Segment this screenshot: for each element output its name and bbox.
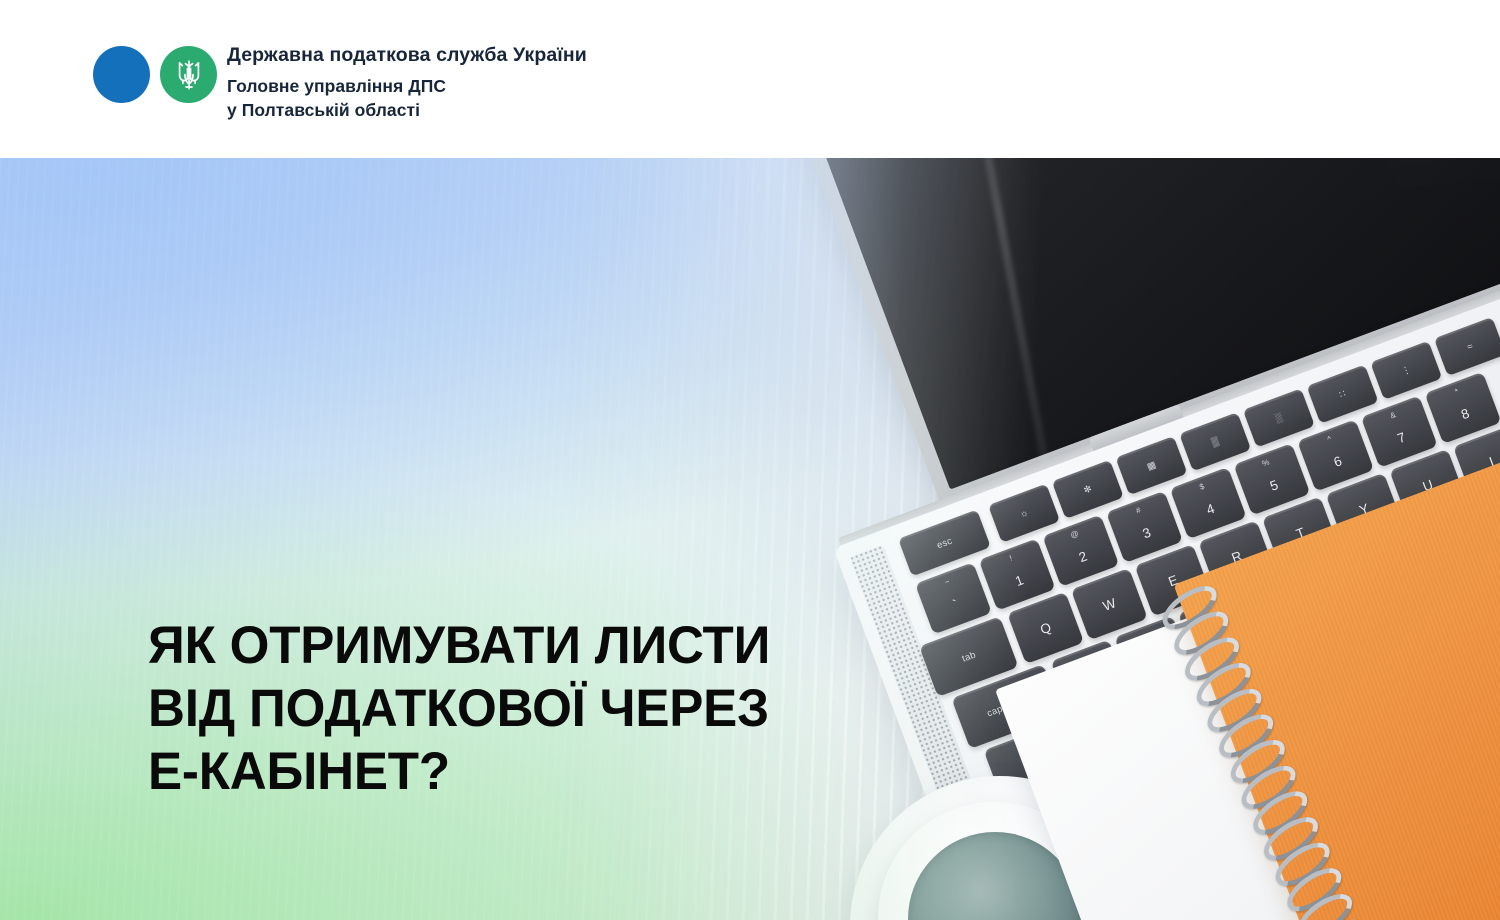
key-label: ☼ xyxy=(1018,507,1030,520)
logo-marks xyxy=(93,46,221,108)
key-label: 1 xyxy=(1013,572,1025,589)
key-label: 4 xyxy=(1204,500,1216,517)
key-label: ` xyxy=(951,596,961,612)
key-label: 8 xyxy=(1459,405,1471,422)
key-label: ▒ xyxy=(1210,435,1220,448)
key-secondary-label: ^ xyxy=(1326,434,1333,444)
key-label: 2 xyxy=(1077,548,1089,565)
org-title-dept: Головне управління ДПС xyxy=(227,74,587,98)
key-label: 5 xyxy=(1268,477,1280,494)
key-secondary-label: % xyxy=(1261,457,1271,468)
key-secondary-label: ~ xyxy=(943,577,951,587)
key-secondary-label: ! xyxy=(1008,554,1013,563)
key-label: ▦ xyxy=(1145,459,1157,473)
key-label: 7 xyxy=(1395,429,1407,446)
key-secondary-label: # xyxy=(1135,505,1143,515)
screen-glint xyxy=(957,158,1058,512)
key-label: ⋮ xyxy=(1400,363,1413,377)
key-label: ░ xyxy=(1274,412,1284,425)
page-title: ЯК ОТРИМУВАТИ ЛИСТИВІД ПОДАТКОВОЇ ЧЕРЕЗЕ… xyxy=(148,614,770,803)
ukrainian-trident-tryzub-icon xyxy=(160,46,217,103)
slide-canvas: Державна податкова служба України Головн… xyxy=(0,0,1500,920)
org-title-region: у Полтавській області xyxy=(227,98,587,122)
organization-logo[interactable]: Державна податкова служба України Головн… xyxy=(93,40,587,122)
key-label: tab xyxy=(960,649,977,664)
page-header: Державна податкова служба України Головн… xyxy=(0,0,1500,158)
key-secondary-label: & xyxy=(1389,410,1397,420)
key-label: Q xyxy=(1038,619,1053,637)
key-label: ✻ xyxy=(1082,483,1094,496)
page-title-line-2: ВІД ПОДАТКОВОЇ ЧЕРЕЗ xyxy=(148,677,770,740)
key-secondary-label: @ xyxy=(1069,529,1080,540)
key-secondary-label: $ xyxy=(1198,482,1206,492)
org-title-main: Державна податкова служба України xyxy=(227,42,587,68)
key-label: esc xyxy=(935,535,953,551)
desk-photo: esc☼✻▦▒░∷⋮≈~`!1@2#3$4%5^6&7*8tabQWERTYUI… xyxy=(560,158,1500,920)
key-label: ∷ xyxy=(1338,388,1348,400)
key-secondary-label: * xyxy=(1454,387,1460,397)
page-title-line-3: Е-КАБІНЕТ? xyxy=(148,740,770,803)
key-label: 3 xyxy=(1140,524,1152,541)
key-label: ≈ xyxy=(1465,340,1474,352)
key-label: 6 xyxy=(1331,453,1343,470)
organization-name-block: Державна податкова служба України Головн… xyxy=(227,40,587,122)
blue-circle-icon xyxy=(93,46,150,103)
page-title-line-1: ЯК ОТРИМУВАТИ ЛИСТИ xyxy=(148,614,770,677)
hero-banner: esc☼✻▦▒░∷⋮≈~`!1@2#3$4%5^6&7*8tabQWERTYUI… xyxy=(0,158,1500,920)
